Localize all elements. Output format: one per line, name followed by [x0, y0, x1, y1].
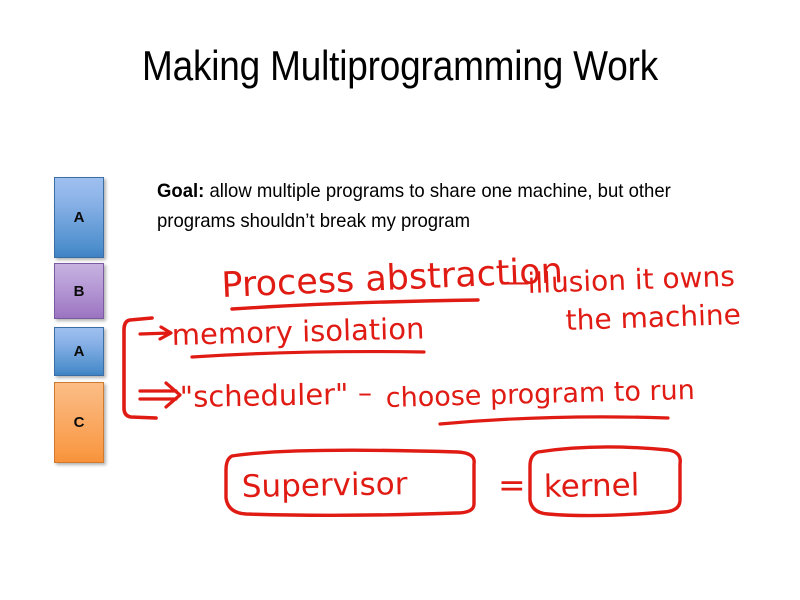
ink-dash-2: – [358, 376, 372, 409]
ink-choose-program-to-run: choose program to run [385, 375, 695, 414]
process-block-label: A [74, 343, 85, 360]
process-block-label: A [74, 209, 85, 226]
process-block-c: C [54, 382, 104, 463]
ink-box-kernel [530, 447, 680, 516]
ink-grouping-bracket [124, 318, 156, 418]
goal-text: allow multiple programs to share one mac… [157, 180, 671, 232]
ink-arrow-memory-isolation [140, 327, 171, 339]
process-block-b: B [54, 263, 104, 319]
process-block-a-2: A [54, 327, 104, 376]
ink-illusion-it-owns: illusion it owns [527, 260, 735, 300]
ink-underline-process-abstraction [232, 300, 478, 309]
process-block-a-1: A [54, 177, 104, 258]
ink-equals: = [498, 465, 526, 504]
goal-paragraph: Goal: allow multiple programs to share o… [157, 176, 689, 236]
process-block-label: C [74, 414, 85, 431]
ink-process-abstraction: Process abstraction [221, 251, 564, 306]
ink-dash-1: — [500, 265, 530, 300]
ink-underline-choose-program [440, 417, 668, 424]
ink-the-machine: the machine [565, 298, 741, 337]
ink-box-supervisor [226, 450, 474, 515]
handwritten-annotation-layer: Process abstraction — illusion it owns t… [0, 0, 800, 600]
goal-label: Goal: [157, 180, 204, 202]
ink-memory-isolation: memory isolation [171, 311, 424, 352]
ink-scheduler: "scheduler" [180, 377, 349, 414]
ink-arrow-scheduler [140, 383, 180, 407]
ink-kernel: kernel [544, 467, 640, 505]
ink-supervisor: Supervisor [242, 466, 408, 505]
process-block-label: B [74, 283, 85, 300]
ink-underline-memory-isolation [192, 352, 424, 357]
page-title: Making Multiprogramming Work [48, 42, 752, 90]
slide-canvas: Making Multiprogramming Work Goal: allow… [0, 0, 800, 600]
